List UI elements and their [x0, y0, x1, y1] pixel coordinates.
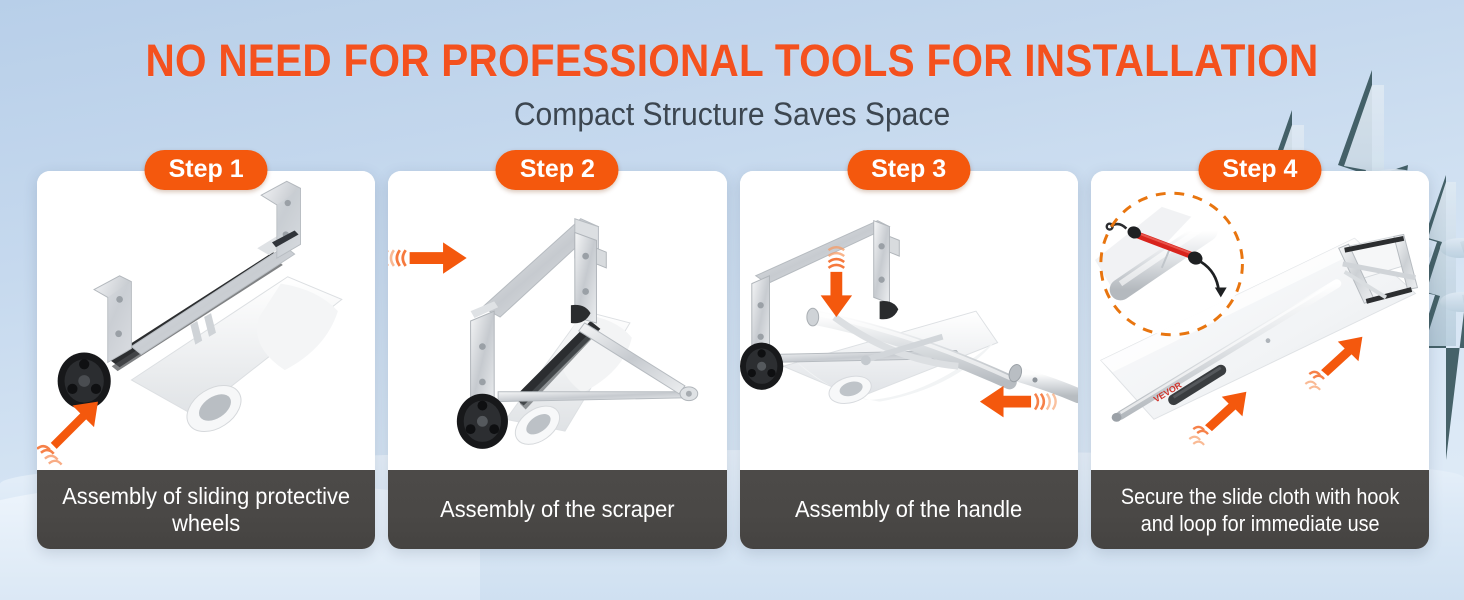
step-card-3[interactable]: Step 3 [740, 171, 1078, 549]
header: NO NEED FOR PROFESSIONAL TOOLS FOR INSTA… [0, 36, 1464, 132]
step-badge-3: Step 3 [847, 150, 970, 190]
motion-arrow-up-right-upper [1305, 337, 1362, 390]
step-card-2[interactable]: Step 2 [388, 171, 726, 549]
motion-arrow-left [979, 386, 1055, 417]
step-caption-4-text: Secure the slide cloth with hook and loo… [1113, 483, 1407, 537]
step-image-4: VEVOR [1091, 171, 1429, 470]
motion-arrow-up-right-lower [1189, 392, 1246, 445]
motion-arrow-right [388, 242, 467, 273]
page-title: NO NEED FOR PROFESSIONAL TOOLS FOR INSTA… [73, 36, 1391, 86]
step-caption-1: Assembly of sliding protective wheels [37, 470, 375, 549]
step-caption-1-text: Assembly of sliding protective wheels [51, 483, 361, 537]
motion-arrow-up-right [37, 402, 98, 465]
step-image-2 [388, 171, 726, 470]
step-caption-4: Secure the slide cloth with hook and loo… [1091, 470, 1429, 549]
step-badge-4: Step 4 [1198, 150, 1321, 190]
step-badge-1: Step 1 [145, 150, 268, 190]
motion-arrow-down [820, 247, 851, 317]
step-caption-3-text: Assembly of the handle [795, 496, 1022, 523]
step-caption-3: Assembly of the handle [740, 470, 1078, 549]
step-card-1[interactable]: Step 1 [37, 171, 375, 549]
step-card-4[interactable]: Step 4 [1091, 171, 1429, 549]
hook-and-loop-inset [1095, 193, 1242, 335]
step-caption-2-text: Assembly of the scraper [440, 496, 674, 523]
step-image-1 [37, 171, 375, 470]
step-image-3 [740, 171, 1078, 470]
steps-row: Step 1 [37, 171, 1429, 549]
step-caption-2: Assembly of the scraper [388, 470, 726, 549]
step-badge-2: Step 2 [496, 150, 619, 190]
page-subtitle: Compact Structure Saves Space [44, 96, 1420, 132]
